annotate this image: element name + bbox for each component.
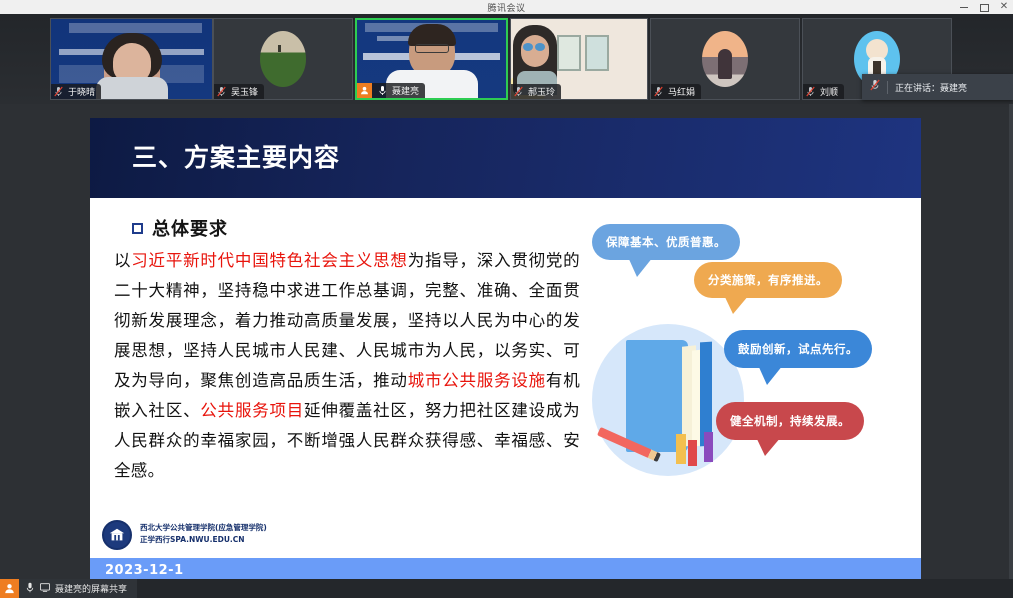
participant-name: 郝玉玲: [528, 85, 555, 98]
paragraph-highlight: 习近平新时代中国特色社会主义思想: [131, 251, 407, 270]
slide-footer: 西北大学公共管理学院(应急管理学院) 正学西行SPA.NWU.EDU.CN: [90, 518, 921, 558]
shared-screen-slide: 三、方案主要内容 总体要求 以习近平新时代中国特色社会主义思想为指导，深入贯彻党…: [90, 118, 921, 580]
participant-nameplate: 马红娟: [651, 84, 701, 99]
paragraph-text: 以: [114, 251, 131, 270]
participant-tile[interactable]: 郝玉玲: [510, 18, 648, 100]
paragraph-highlight: 城市公共服务设施: [408, 371, 546, 390]
mic-muted-icon: [870, 78, 880, 96]
bubble-text: 健全机制，持续发展。: [730, 413, 850, 429]
participant-tile[interactable]: 吴玉锋: [213, 18, 353, 100]
screen-share-status-item[interactable]: 聂建亮的屏幕共享: [19, 579, 137, 598]
speech-bubble: 分类施策，有序推进。: [694, 262, 842, 298]
participant-name: 聂建亮: [392, 84, 419, 97]
footer-line-1: 西北大学公共管理学院(应急管理学院): [140, 522, 267, 534]
slide-bottom-bar: 2023-12-1: [90, 558, 921, 580]
mic-muted-icon: [511, 86, 525, 97]
bubble-tail: [758, 365, 783, 385]
restore-icon[interactable]: [979, 2, 989, 12]
toast-divider: [887, 81, 888, 94]
speech-bubble: 保障基本、优质普惠。: [592, 224, 740, 260]
participant-nameplate: 吴玉锋: [214, 84, 264, 99]
participant-tile-active-speaker[interactable]: 聂建亮: [355, 18, 508, 100]
participant-nameplate: 刘顺: [803, 84, 844, 99]
participant-tile[interactable]: 马红娟: [650, 18, 800, 100]
paragraph-highlight: 公共服务项目: [200, 401, 304, 420]
speech-bubble: 鼓励创新，试点先行。: [724, 330, 872, 368]
active-speaker-toast: 正在讲话：聂建亮: [862, 74, 1013, 100]
slide-paragraph: 以习近平新时代中国特色社会主义思想为指导，深入贯彻党的二十大精神，坚持稳中求进工…: [114, 246, 580, 486]
slide-header-band: 三、方案主要内容: [90, 118, 921, 198]
tencent-meeting-window: 腾讯会议 ✕ 于晓晴: [0, 0, 1013, 598]
university-logo-icon: [102, 520, 132, 550]
mic-muted-icon: [651, 86, 665, 97]
slide-body: 总体要求 以习近平新时代中国特色社会主义思想为指导，深入贯彻党的二十大精神，坚持…: [90, 198, 921, 580]
bullet-heading-row: 总体要求: [132, 215, 228, 241]
slide-title: 三、方案主要内容: [132, 138, 340, 174]
participant-tile[interactable]: 于晓晴: [50, 18, 213, 100]
bubble-tail: [628, 257, 653, 277]
bubble-text: 鼓励创新，试点先行。: [738, 341, 858, 357]
participant-name: 马红娟: [668, 85, 695, 98]
screen-share-label: 聂建亮的屏幕共享: [55, 582, 127, 595]
mic-on-icon: [375, 85, 389, 96]
participant-name: 吴玉锋: [231, 85, 258, 98]
content-scrollbar[interactable]: [1009, 104, 1013, 579]
participant-nameplate: 于晓晴: [51, 84, 101, 99]
bubble-text: 保障基本、优质普惠。: [606, 234, 726, 250]
screen-share-icon[interactable]: [40, 580, 50, 598]
participant-name: 于晓晴: [68, 85, 95, 98]
window-title-bar: 腾讯会议 ✕: [0, 0, 1013, 14]
participant-nameplate: 聂建亮: [357, 83, 425, 98]
footer-org-text: 西北大学公共管理学院(应急管理学院) 正学西行SPA.NWU.EDU.CN: [140, 522, 267, 546]
bubble-text: 分类施策，有序推进。: [708, 272, 828, 288]
participant-name: 刘顺: [820, 85, 838, 98]
speech-bubble: 健全机制，持续发展。: [716, 402, 864, 440]
paragraph-text: 为指导，深入贯彻党的二十大精神，坚持稳中求进工作总基调，完整、准确、全面贯彻新发…: [114, 251, 580, 390]
participant-nameplate: 郝玉玲: [511, 84, 561, 99]
taskbar: 聂建亮的屏幕共享: [0, 579, 1013, 598]
host-badge-icon: [357, 83, 372, 98]
square-bullet-icon: [132, 223, 143, 234]
mic-muted-icon: [51, 86, 65, 97]
window-controls: ✕: [959, 0, 1009, 14]
minimize-icon[interactable]: [959, 2, 969, 12]
participant-filmstrip: 于晓晴 吴玉锋: [0, 14, 1013, 104]
host-badge-icon[interactable]: [0, 579, 19, 598]
active-speaker-label: 正在讲话：聂建亮: [895, 81, 967, 94]
bullet-heading: 总体要求: [152, 215, 228, 241]
microphone-icon[interactable]: [25, 580, 35, 598]
toast-pointer: [1008, 81, 1013, 93]
mic-muted-icon: [214, 86, 228, 97]
book-illustration: [626, 336, 736, 458]
footer-line-2: 正学西行SPA.NWU.EDU.CN: [140, 534, 267, 546]
bubble-tail: [756, 437, 781, 456]
mic-muted-icon: [803, 86, 817, 97]
bubble-tail: [724, 295, 749, 314]
avatar: [702, 31, 748, 87]
close-icon[interactable]: ✕: [999, 2, 1009, 12]
avatar: [260, 31, 306, 87]
concept-graphic: 保障基本、优质普惠。 分类施策，有序推进。 鼓励创新，试点先行。 健全机制，持续…: [586, 224, 908, 524]
window-title: 腾讯会议: [487, 1, 525, 14]
slide-date: 2023-12-1: [105, 563, 184, 578]
